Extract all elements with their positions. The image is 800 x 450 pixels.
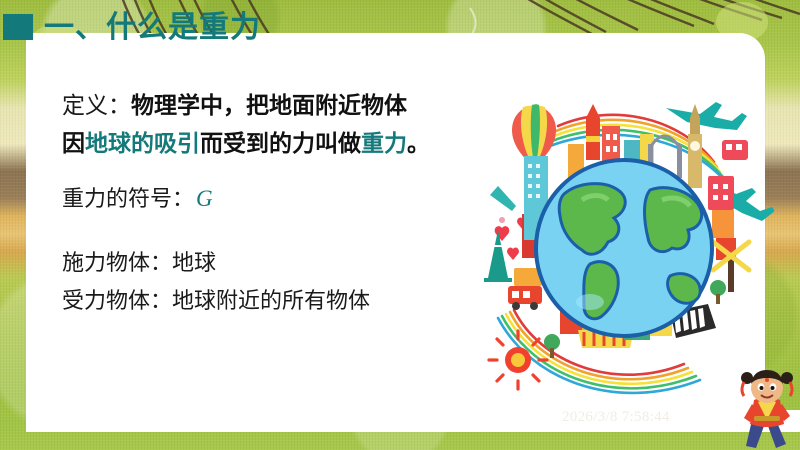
objects-block: 施力物体：地球 受力物体：地球附近的所有物体	[62, 244, 532, 320]
body-content: 定义：物理学中，把地面附近物体 因地球的吸引而受到的力叫做重力。 重力的符号：G…	[62, 86, 532, 320]
receiver-object-line: 受力物体：地球附近的所有物体	[62, 282, 532, 320]
applier-object-line: 施力物体：地球	[62, 244, 532, 282]
definition-text-part1: 物理学中，把地面附近物体	[131, 92, 407, 118]
symbol-label: 重力的符号：	[62, 186, 194, 211]
slide-canvas: 一、什么是重力 定义：物理学中，把地面附近物体 因地球的吸引而受到的力叫做重力。…	[0, 0, 800, 450]
symbol-value: G	[194, 186, 213, 211]
page-title: 一、什么是重力	[44, 9, 261, 47]
title-bullet-square	[3, 14, 33, 40]
content-card-bottom	[26, 410, 800, 432]
definition-highlight-gravity: 重力	[361, 130, 407, 156]
definition-line-2: 因地球的吸引而受到的力叫做重力。	[62, 124, 532, 162]
definition-period: 。	[407, 130, 430, 156]
definition-text-a: 因	[62, 130, 85, 156]
definition-label: 定义：	[62, 92, 131, 118]
definition-highlight-attraction: 地球的吸引	[85, 130, 200, 156]
nezha-character	[736, 366, 798, 450]
definition-line-1: 定义：物理学中，把地面附近物体	[62, 86, 532, 124]
definition-block: 定义：物理学中，把地面附近物体 因地球的吸引而受到的力叫做重力。	[62, 86, 532, 162]
timestamp-watermark: 2026/3/8 7:58:44	[562, 409, 670, 426]
earth-globe-illustration	[474, 96, 774, 406]
symbol-block: 重力的符号：G	[62, 182, 532, 216]
definition-text-b: 而受到的力叫做	[200, 130, 361, 156]
